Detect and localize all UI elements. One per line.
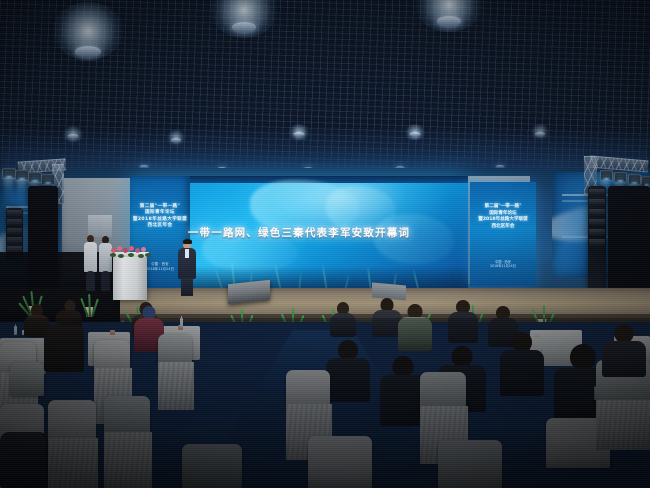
right-strip-date: 中国 · 西安 2018年11月24日	[471, 260, 535, 269]
audience-person-foreground	[0, 432, 48, 488]
chair-skirt	[596, 400, 650, 450]
speaking-podium	[113, 255, 147, 300]
ceiling-downlight-dim	[62, 130, 84, 146]
conference-hall-photo: 第二届"一带一路" 国际青年论坛 暨2018年丝路大学联盟 西北区年会 中国 ·…	[0, 0, 650, 488]
water-bottle	[180, 318, 183, 327]
right-strip-title-line: 第二届"一带一路"	[471, 204, 535, 211]
audience-chair	[308, 436, 372, 488]
presenter-at-podium	[178, 240, 196, 296]
audience-person	[602, 324, 646, 376]
ceiling-downlight-dim	[166, 134, 186, 148]
presenter-legs	[181, 278, 193, 296]
water-bottle	[14, 326, 17, 335]
audience-chair	[182, 444, 242, 488]
right-wall-title-strip: 第二届"一带一路" 国际青年论坛 暨2018年丝路大学联盟 西北区年会 中国 ·…	[470, 182, 536, 286]
speaker-line-array-right	[588, 186, 606, 290]
ceiling-downlight-bright	[415, 0, 483, 54]
audience-person-green-shirt	[398, 304, 432, 350]
ceiling-downlight-dim	[530, 128, 550, 142]
podium-flower-arrangement	[108, 246, 152, 259]
ceiling-downlight-bright	[52, 18, 124, 88]
ceiling-downlight-dim	[288, 128, 310, 144]
right-strip-title-line: 暨2018年丝路大学联盟	[471, 217, 535, 224]
light-beam	[4, 177, 13, 203]
mc-person-left	[84, 235, 97, 291]
wall-door-frame	[88, 215, 112, 237]
right-strip-title-line: 西北区年会	[471, 224, 535, 231]
audience-person	[44, 310, 84, 372]
stage-side-curtain-right	[608, 186, 650, 296]
mc-person-right	[99, 236, 112, 291]
chair-skirt	[48, 438, 98, 488]
audience-person	[326, 340, 370, 402]
ceiling-downlight-dim	[404, 128, 426, 144]
paper-cup	[110, 330, 115, 335]
audience-person	[500, 332, 544, 396]
screen-headline-text: 一带一路网、绿色三秦代表李军安致开幕词	[130, 225, 468, 240]
audience-chair	[10, 362, 44, 396]
presenter-shirt	[185, 249, 189, 258]
chair-skirt	[158, 362, 194, 410]
chair-skirt	[104, 432, 152, 488]
presenter-hair	[183, 239, 192, 244]
audience-person	[330, 302, 356, 336]
light-beam	[17, 179, 26, 203]
right-strip-title: 第二届"一带一路" 国际青年论坛 暨2018年丝路大学联盟 西北区年会	[471, 204, 535, 230]
ceiling-downlight-bright	[210, 0, 278, 60]
right-strip-date-line: 2018年11月24日	[471, 264, 535, 268]
audience-person	[448, 300, 478, 342]
par-can-light	[41, 174, 55, 185]
audience-chair	[438, 440, 502, 488]
